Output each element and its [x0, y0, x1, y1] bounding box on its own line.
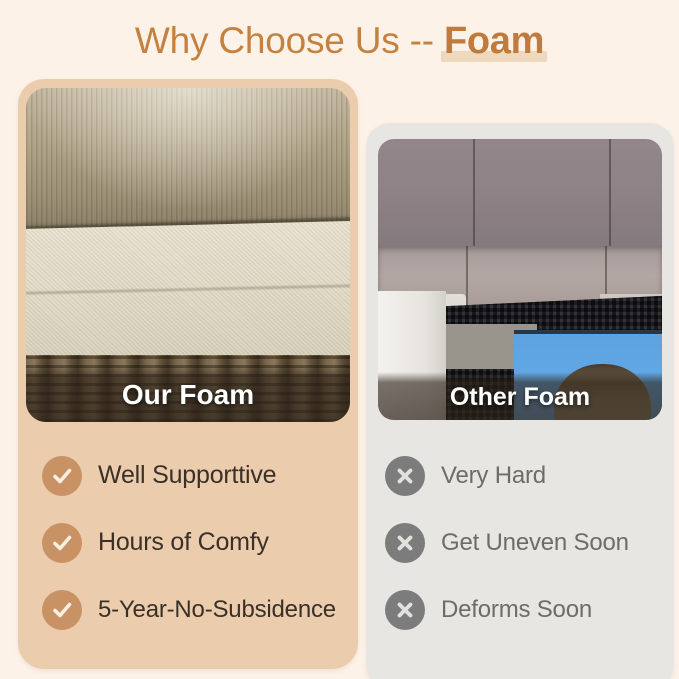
other-foam-caption: Other Foam — [378, 372, 662, 420]
cross-circle-icon — [385, 456, 425, 496]
our-foam-caption: Our Foam — [26, 366, 350, 422]
photo-backrest-panel — [378, 139, 475, 251]
page-title-accent-wrap: Foam — [444, 20, 544, 63]
photo-backrest-highlight — [26, 88, 350, 232]
check-circle-icon — [42, 456, 82, 496]
list-item-label: Get Uneven Soon — [441, 530, 629, 556]
list-item-label: Well Supporttive — [98, 462, 276, 490]
list-item-label: Hours of Comfy — [98, 529, 269, 557]
list-item: Get Uneven Soon — [385, 523, 675, 563]
our-foam-photo: Our Foam — [26, 88, 350, 422]
photo-backrest-panel — [475, 139, 611, 251]
check-circle-icon — [42, 523, 82, 563]
list-item-label: Very Hard — [441, 463, 546, 489]
cross-circle-icon — [385, 590, 425, 630]
photo-backrest-panel — [611, 139, 662, 251]
list-item: Hours of Comfy — [42, 523, 352, 563]
page-title: Why Choose Us -- Foam — [0, 20, 679, 63]
check-circle-icon — [42, 590, 82, 630]
list-item-label: 5-Year-No-Subsidence — [98, 597, 336, 623]
other-foam-photo: Other Foam — [378, 139, 662, 420]
list-item-label: Deforms Soon — [441, 597, 592, 623]
page-title-accent: Foam — [444, 20, 544, 62]
list-item: Well Supporttive — [42, 456, 352, 496]
page-title-normal: Why Choose Us -- — [135, 20, 444, 61]
cons-list: Very Hard Get Uneven Soon Deforms Soon — [385, 456, 675, 657]
list-item: Deforms Soon — [385, 590, 675, 630]
pros-list: Well Supporttive Hours of Comfy 5-Year-N… — [42, 456, 352, 657]
cross-circle-icon — [385, 523, 425, 563]
list-item: 5-Year-No-Subsidence — [42, 590, 352, 630]
list-item: Very Hard — [385, 456, 675, 496]
